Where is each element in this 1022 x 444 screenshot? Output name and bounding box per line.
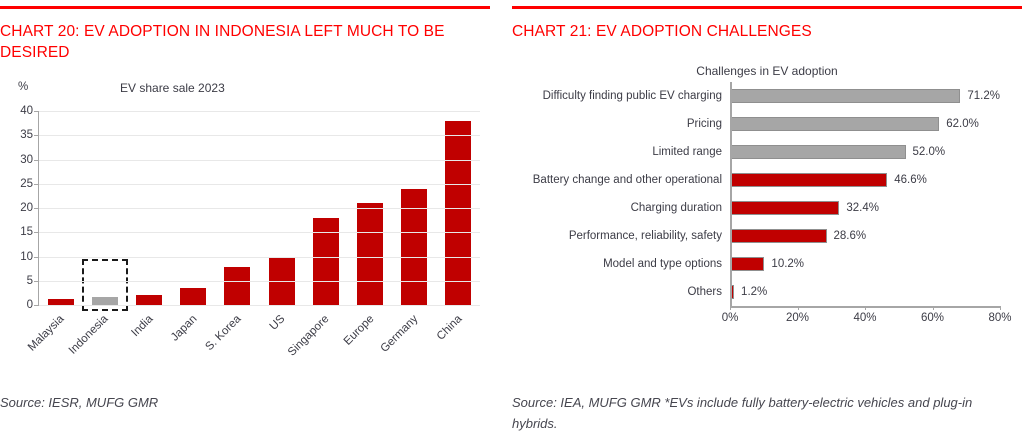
x-axis-label-slot: Japan [171, 307, 215, 367]
gridline [39, 257, 480, 258]
x-axis-tick-label-text: Japan [169, 313, 200, 344]
bar-track: 46.6% [730, 166, 1000, 194]
y-axis-tick-label: 20 [20, 202, 33, 214]
bar-track: 1.2% [730, 278, 1000, 306]
ev-challenges-bar-chart: Difficulty finding public EV charging71.… [512, 82, 1022, 334]
y-axis-tick-label: 40 [20, 105, 33, 117]
bar-china [445, 121, 471, 305]
challenge-label: Others [512, 286, 730, 298]
y-axis-tick-mark [34, 305, 39, 306]
gridline [39, 232, 480, 233]
chart-20-title: CHART 20: EV ADOPTION IN INDONESIA LEFT … [0, 21, 490, 63]
chart-21-title: CHART 21: EV ADOPTION CHALLENGES [512, 21, 1022, 42]
bar-value-label: 62.0% [946, 118, 979, 130]
challenge-label: Performance, reliability, safety [512, 230, 730, 242]
x-axis-tick-mark [933, 306, 934, 310]
x-axis-tick-label: 80% [988, 312, 1011, 324]
y-axis-tick-mark [34, 208, 39, 209]
x-axis-labels-left: MalaysiaIndonesiaIndiaJapanS. KoreaUSSin… [38, 307, 480, 367]
x-axis-label-slot: China [436, 307, 480, 367]
dual-chart-page: CHART 20: EV ADOPTION IN INDONESIA LEFT … [0, 0, 1022, 444]
plot-area-left: 0510152025303540 [38, 111, 480, 306]
bar-singapore [313, 218, 339, 305]
challenge-row: Model and type options10.2% [512, 250, 1022, 278]
gridline [39, 208, 480, 209]
y-axis-tick-mark [34, 111, 39, 112]
bar-value-label: 46.6% [894, 174, 927, 186]
bar-track: 71.2% [730, 82, 1000, 110]
challenge-label: Pricing [512, 118, 730, 130]
y-axis-tick-mark [34, 160, 39, 161]
x-axis-tick-label-text: Europe [341, 313, 376, 348]
y-axis-tick-label: 15 [20, 226, 33, 238]
bar-difficulty-finding-public-ev-charging [730, 89, 960, 103]
y-axis-line-right [730, 82, 732, 306]
challenge-label: Charging duration [512, 202, 730, 214]
bar-value-label: 71.2% [967, 90, 1000, 102]
chart-20-plot-title: EV share sale 2023 [120, 81, 225, 95]
top-rule-right [512, 6, 1022, 9]
challenge-row: Battery change and other operational46.6… [512, 166, 1022, 194]
bar-limited-range [730, 145, 906, 159]
bar-track: 62.0% [730, 110, 1000, 138]
challenge-row: Difficulty finding public EV charging71.… [512, 82, 1022, 110]
x-axis-tick-label: 0% [722, 312, 739, 324]
bar-track: 52.0% [730, 138, 1000, 166]
y-axis-tick-label: 35 [20, 129, 33, 141]
challenge-row: Charging duration32.4% [512, 194, 1022, 222]
x-axis-tick-label-text: China [435, 313, 465, 343]
x-axis-label-slot: S. Korea [215, 307, 259, 367]
x-axis-labels-right: 0%20%40%60%80% [730, 306, 1000, 330]
challenge-row: Performance, reliability, safety28.6% [512, 222, 1022, 250]
bar-track: 10.2% [730, 250, 1000, 278]
x-axis-label-slot: US [259, 307, 303, 367]
y-axis-tick-label: 0 [27, 299, 33, 311]
challenge-label: Difficulty finding public EV charging [512, 90, 730, 102]
x-axis-tick-label-text: Malaysia [26, 313, 67, 354]
x-axis-tick-label-text: US [268, 313, 288, 333]
y-axis-tick-mark [34, 257, 39, 258]
bar-value-label: 52.0% [913, 146, 946, 158]
gridline [39, 281, 480, 282]
x-axis-tick-mark [865, 306, 866, 310]
bar-value-label: 28.6% [834, 230, 867, 242]
bar-s-korea [224, 267, 250, 305]
bar-track: 28.6% [730, 222, 1000, 250]
x-axis-label-slot: Malaysia [38, 307, 82, 367]
bar-performance-reliability-safety [730, 229, 827, 243]
bar-track: 32.4% [730, 194, 1000, 222]
gridline [39, 135, 480, 136]
challenge-row: Others1.2% [512, 278, 1022, 306]
x-axis-tick-mark [798, 306, 799, 310]
x-axis-label-slot: India [126, 307, 170, 367]
y-axis-tick-mark [34, 135, 39, 136]
y-axis-tick-mark [34, 184, 39, 185]
gridline [39, 184, 480, 185]
bar-germany [401, 189, 427, 305]
bar-charging-duration [730, 201, 839, 215]
x-axis-label-slot: Europe [347, 307, 391, 367]
y-axis-tick-label: 5 [27, 275, 33, 287]
x-axis-label-slot: Singapore [303, 307, 347, 367]
x-axis-tick-mark [730, 306, 731, 310]
gridline [39, 160, 480, 161]
y-axis-tick-label: 10 [20, 251, 33, 263]
x-axis-label-slot: Indonesia [82, 307, 126, 367]
x-axis-tick-label: 20% [786, 312, 809, 324]
y-axis-unit-label: % [18, 81, 28, 93]
bar-pricing [730, 117, 939, 131]
chart-21-source: Source: IEA, MUFG GMR *EVs include fully… [512, 392, 1012, 434]
bar-model-and-type-options [730, 257, 764, 271]
chart-20-panel: CHART 20: EV ADOPTION IN INDONESIA LEFT … [0, 0, 490, 444]
ev-share-sale-bar-chart: 0510152025303540 MalaysiaIndonesiaIndiaJ… [0, 107, 490, 367]
x-axis-tick-label: 40% [853, 312, 876, 324]
y-axis-tick-label: 30 [20, 154, 33, 166]
gridline [39, 111, 480, 112]
bar-series-right: Difficulty finding public EV charging71.… [512, 82, 1022, 306]
chart-21-panel: CHART 21: EV ADOPTION CHALLENGES Challen… [512, 0, 1022, 444]
bar-value-label: 1.2% [741, 286, 767, 298]
y-axis-tick-mark [34, 232, 39, 233]
y-axis-tick-label: 25 [20, 178, 33, 190]
challenge-row: Pricing62.0% [512, 110, 1022, 138]
challenge-label: Battery change and other operational [512, 174, 730, 186]
chart-20-source: Source: IESR, MUFG GMR [0, 392, 158, 413]
y-axis-tick-mark [34, 281, 39, 282]
challenge-row: Limited range52.0% [512, 138, 1022, 166]
bar-value-label: 10.2% [771, 258, 804, 270]
challenge-label: Model and type options [512, 258, 730, 270]
top-rule-left [0, 6, 490, 9]
chart-21-plot-title: Challenges in EV adoption [512, 64, 1022, 78]
x-axis-tick-label: 60% [921, 312, 944, 324]
chart-20-subtitle-row: % EV share sale 2023 [0, 81, 490, 101]
challenge-label: Limited range [512, 146, 730, 158]
x-axis-tick-label-text: India [129, 313, 155, 339]
bar-battery-change-and-other-operational [730, 173, 887, 187]
bar-value-label: 32.4% [846, 202, 879, 214]
x-axis-label-slot: Germany [392, 307, 436, 367]
x-axis-tick-mark [1000, 306, 1001, 310]
